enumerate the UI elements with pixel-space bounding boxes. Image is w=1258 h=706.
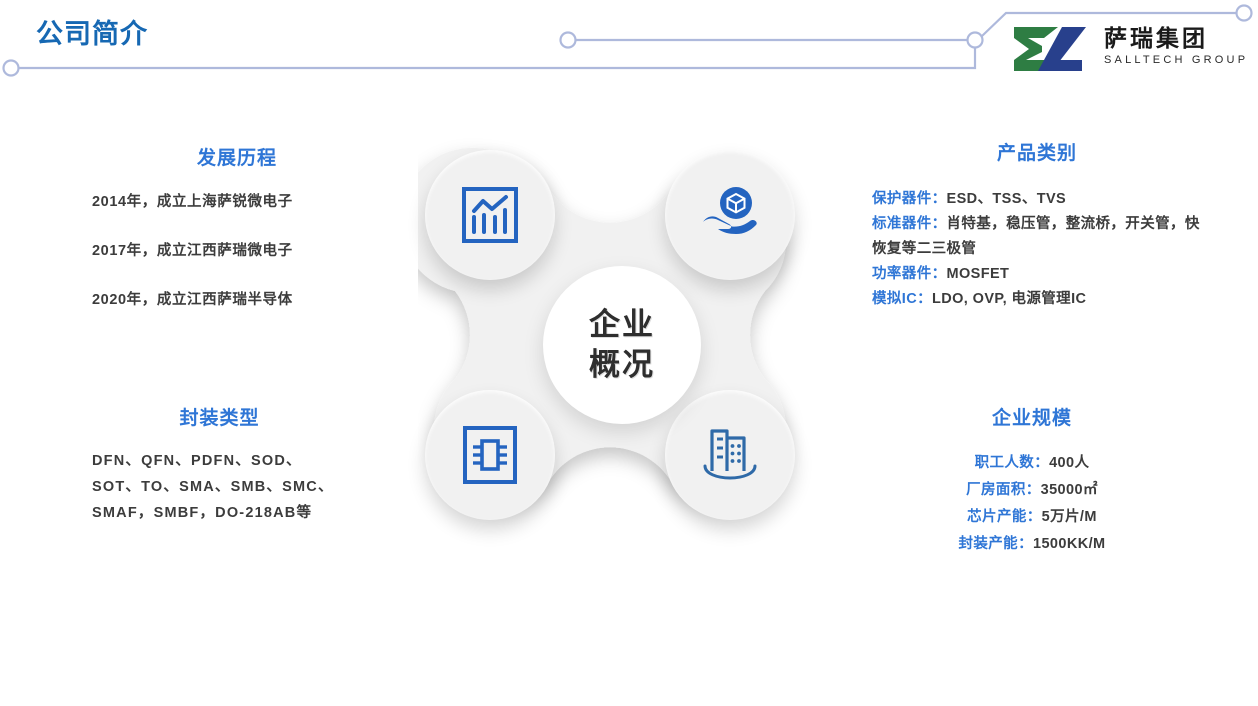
package-types-body: DFN、QFN、PDFN、SOD、SOT、TO、SMA、SMB、SMC、SMAF… [92,448,347,526]
buildings-icon [699,424,761,486]
product-category-list: 保护器件：ESD、TSS、TVS 标准器件：肖特基，稳压管，整流桥，开关管，快恢… [872,187,1202,312]
center-label-line2: 概况 [589,345,655,385]
list-item: 功率器件：MOSFET [872,262,1202,287]
list-item: 模拟IC：LDO, OVP, 电源管理IC [872,287,1202,312]
list-item: 保护器件：ESD、TSS、TVS [872,187,1202,212]
page-header: 公司简介 萨瑞集团 SALLTECH GROUP [0,0,1258,95]
list-item: 封装产能：1500KK/M [872,531,1192,558]
product-key: 模拟IC： [872,291,932,307]
diagram-node-top-right[interactable] [665,150,795,280]
bar-chart-icon [459,184,521,246]
section-heading-history: 发展历程 [92,143,382,170]
page-title: 公司简介 [36,12,148,51]
list-item: 标准器件：肖特基，稳压管，整流桥，开关管，快恢复等二三极管 [872,212,1202,262]
product-value: LDO, OVP, 电源管理IC [932,291,1086,307]
diagram-node-top-left[interactable] [425,150,555,280]
logo-text: 萨瑞集团 SALLTECH GROUP [1104,24,1250,67]
section-development-history: 发展历程 2014年，成立上海萨锐微电子 2017年，成立江西萨瑞微电子 202… [92,143,382,337]
list-item: 芯片产能：5万片/M [872,504,1192,531]
list-item: 2014年，成立上海萨锐微电子 [92,190,382,211]
logo-name-cn: 萨瑞集团 [1104,24,1250,52]
product-value: MOSFET [947,266,1010,282]
enterprise-scale-list: 职工人数：400人 厂房面积：35000㎡ 芯片产能：5万片/M 封装产能：15… [872,450,1192,558]
hand-holding-box-icon [699,184,761,246]
section-enterprise-scale: 企业规模 职工人数：400人 厂房面积：35000㎡ 芯片产能：5万片/M 封装… [872,403,1192,558]
section-heading-scale: 企业规模 [872,403,1192,430]
list-item: 2020年，成立江西萨瑞半导体 [92,288,382,309]
product-key: 标准器件： [872,216,947,232]
salltech-logo-mark [1012,26,1096,72]
scale-key: 职工人数： [975,455,1050,471]
scale-key: 封装产能： [958,536,1033,552]
history-list: 2014年，成立上海萨锐微电子 2017年，成立江西萨瑞微电子 2020年，成立… [92,190,382,309]
section-product-categories: 产品类别 保护器件：ESD、TSS、TVS 标准器件：肖特基，稳压管，整流桥，开… [872,138,1202,312]
company-logo: 萨瑞集团 SALLTECH GROUP [1012,24,1248,76]
center-label-line1: 企业 [589,305,655,345]
product-value: ESD、TSS、TVS [947,191,1067,207]
scale-value: 5万片/M [1042,509,1097,525]
diagram-node-bottom-left[interactable] [425,390,555,520]
product-key: 保护器件： [872,191,947,207]
scale-key: 芯片产能： [967,509,1042,525]
chip-package-icon [459,424,521,486]
scale-value: 400人 [1049,455,1089,471]
list-item: 2017年，成立江西萨瑞微电子 [92,239,382,260]
section-package-types: 封装类型 DFN、QFN、PDFN、SOD、SOT、TO、SMA、SMB、SMC… [92,403,347,526]
list-item: 职工人数：400人 [872,450,1192,477]
section-heading-product: 产品类别 [872,138,1202,165]
section-heading-package: 封装类型 [92,403,347,430]
scale-key: 厂房面积： [966,482,1041,498]
scale-value: 1500KK/M [1033,536,1106,552]
logo-name-en: SALLTECH GROUP [1104,53,1250,67]
enterprise-overview-diagram: 企业 概况 [418,128,838,552]
list-item: 厂房面积：35000㎡ [872,477,1192,504]
diagram-center-label: 企业 概况 [543,266,701,424]
diagram-node-bottom-right[interactable] [665,390,795,520]
product-key: 功率器件： [872,266,947,282]
scale-value: 35000㎡ [1041,482,1098,498]
